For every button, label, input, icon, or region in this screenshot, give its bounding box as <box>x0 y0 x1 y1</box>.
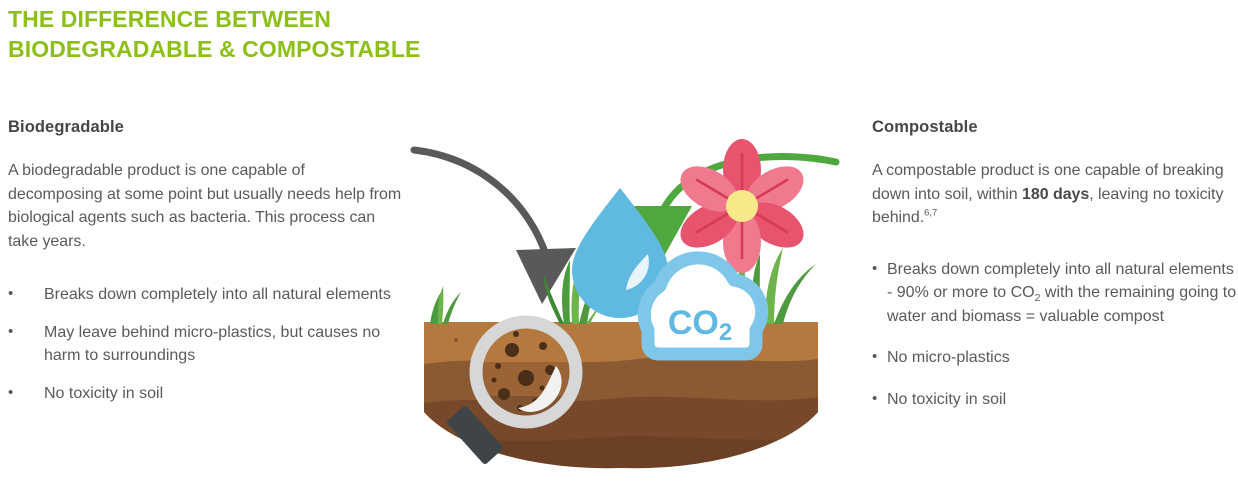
co2-subscript: 2 <box>1035 292 1041 304</box>
list-item: • No toxicity in soil <box>872 388 1238 412</box>
biodegradable-heading: Biodegradable <box>8 118 403 137</box>
bullet-icon: • <box>872 346 877 368</box>
list-item-label: Breaks down completely into all natural … <box>44 283 403 307</box>
bullet-icon: • <box>872 258 877 280</box>
page-title: THE DIFFERENCE BETWEEN BIODEGRADABLE & C… <box>8 4 628 65</box>
compostable-heading: Compostable <box>872 118 1238 137</box>
list-item: • No micro-plastics <box>872 346 1238 370</box>
bullet-icon: • <box>8 321 13 343</box>
bullet-icon: • <box>8 382 13 404</box>
biodegradable-intro: A biodegradable product is one capable o… <box>8 159 403 253</box>
compostable-column: Compostable A compostable product is one… <box>872 118 1238 429</box>
bullet-icon: • <box>8 283 13 305</box>
list-item-label: May leave behind micro-plastics, but cau… <box>44 321 403 368</box>
list-item-label: Breaks down completely into all natural … <box>887 258 1238 329</box>
list-item: • May leave behind micro-plastics, but c… <box>8 321 403 368</box>
page-title-line-2: BIODEGRADABLE & COMPOSTABLE <box>8 34 628 64</box>
list-item: • Breaks down completely into all natura… <box>872 258 1238 329</box>
biodegradable-bullet-list: • Breaks down completely into all natura… <box>8 283 403 405</box>
list-item: • Breaks down completely into all natura… <box>8 283 403 307</box>
soil-illustration: CO2 <box>390 78 850 478</box>
list-item-label: No micro-plastics <box>887 346 1238 370</box>
grass-tuft-left-icon <box>430 286 461 324</box>
grey-curved-arrow-icon <box>414 150 576 304</box>
list-item-label: No toxicity in soil <box>887 388 1238 412</box>
bullet-icon: • <box>872 388 877 410</box>
page-title-line-1: THE DIFFERENCE BETWEEN <box>8 4 628 34</box>
compostable-bullet-list: • Breaks down completely into all natura… <box>872 258 1238 412</box>
list-item: • No toxicity in soil <box>8 382 403 406</box>
list-item-label: No toxicity in soil <box>44 382 403 406</box>
compostable-intro-emphasis: 180 days <box>1022 186 1089 203</box>
reference-superscript: 6,7 <box>924 208 937 219</box>
compostable-intro: A compostable product is one capable of … <box>872 159 1238 230</box>
biodegradable-column: Biodegradable A biodegradable product is… <box>8 118 403 405</box>
